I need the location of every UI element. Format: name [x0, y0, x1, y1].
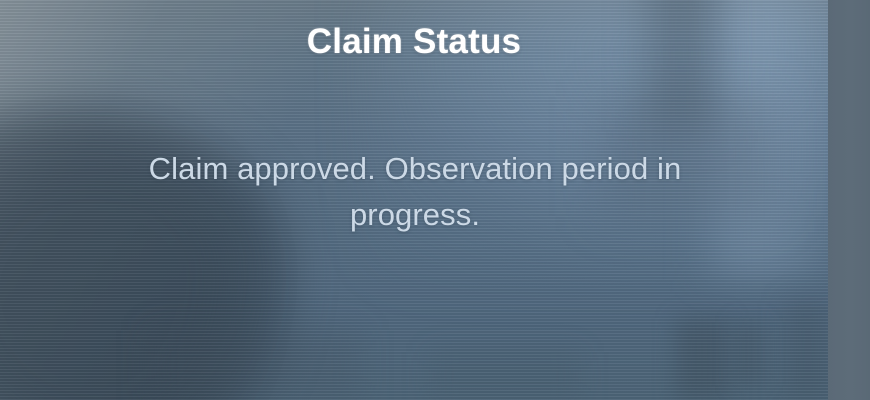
- content-layer: Claim Status Claim approved. Observation…: [0, 0, 828, 400]
- claim-status-screen: Claim Status Claim approved. Observation…: [0, 0, 870, 400]
- right-edge-band: [828, 0, 870, 400]
- content-surface: Claim Status Claim approved. Observation…: [0, 0, 828, 400]
- page-title: Claim Status: [0, 22, 828, 62]
- status-message: Claim approved. Observation period in pr…: [95, 146, 735, 238]
